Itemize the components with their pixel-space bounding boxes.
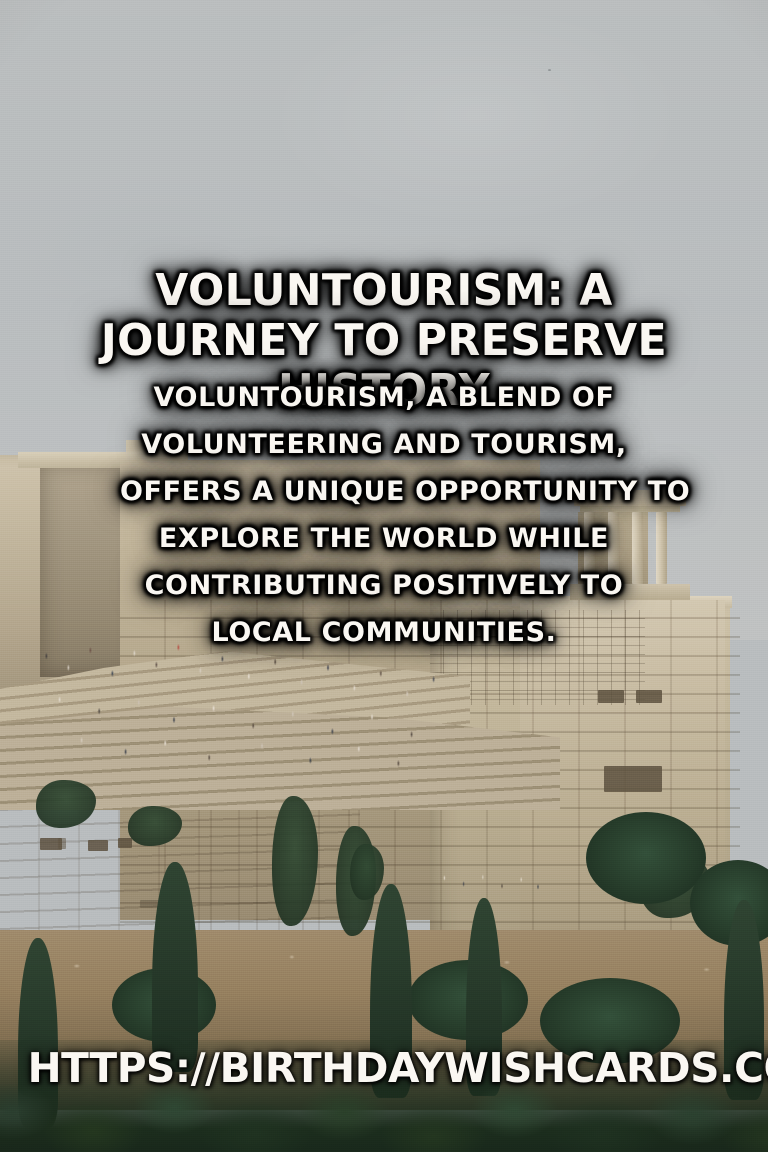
text-overlay: Voluntourism: A Journey to Preserve Hist… xyxy=(0,0,768,1152)
body-line: local communities. xyxy=(120,609,648,656)
poster-body-copy: Voluntourism, a blend of volunteering an… xyxy=(120,374,648,656)
website-url-watermark[interactable]: https://birthdaywishcards.com xyxy=(28,1040,741,1096)
body-line: Voluntourism, a blend of xyxy=(120,374,648,421)
body-line: contributing positively to xyxy=(120,562,648,609)
pinterest-style-poster: Voluntourism: A Journey to Preserve Hist… xyxy=(0,0,768,1152)
body-line: explore the world while xyxy=(120,515,648,562)
body-line: offers a unique opportunity to xyxy=(120,468,648,515)
body-line: volunteering and tourism, xyxy=(120,421,648,468)
